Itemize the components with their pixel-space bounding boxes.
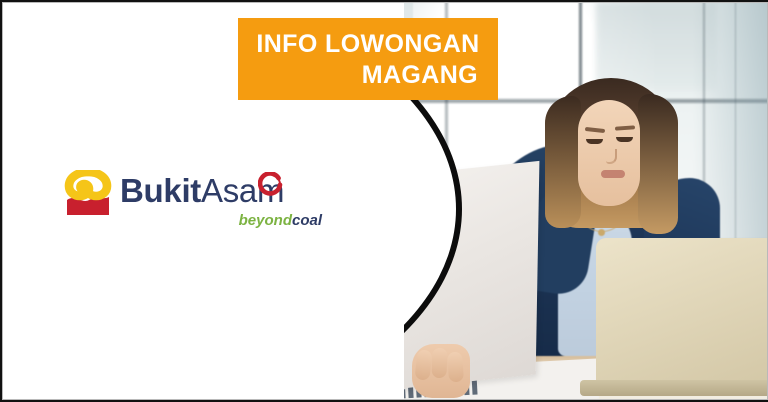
laptop-base [580, 380, 768, 396]
finger [447, 352, 464, 383]
banner-line-2: MAGANG [252, 60, 484, 91]
banner-line-1: INFO LOWONGAN [252, 29, 484, 60]
hair-strand-right [638, 94, 678, 234]
tagline-coal: coal [292, 212, 322, 229]
eye [616, 137, 633, 142]
laptop-lid [596, 238, 768, 386]
poster-canvas: INFO LOWONGAN MAGANG BukitAsam beyondcoa… [0, 0, 768, 402]
tagline-beyond: beyond [239, 212, 292, 229]
info-banner: INFO LOWONGAN MAGANG [238, 18, 498, 100]
bukit-asam-logomark-icon [64, 170, 112, 218]
red-swirl-icon [258, 172, 284, 198]
logo-tagline: beyondcoal [176, 212, 322, 230]
bukit-asam-logo: BukitAsam beyondcoal [64, 168, 304, 246]
finger [431, 348, 447, 379]
hair-strand-left [545, 96, 581, 228]
lips [601, 170, 625, 178]
necklace-pendant [598, 229, 605, 236]
logo-word-bukit: Bukit [120, 172, 201, 209]
eye [586, 139, 603, 144]
